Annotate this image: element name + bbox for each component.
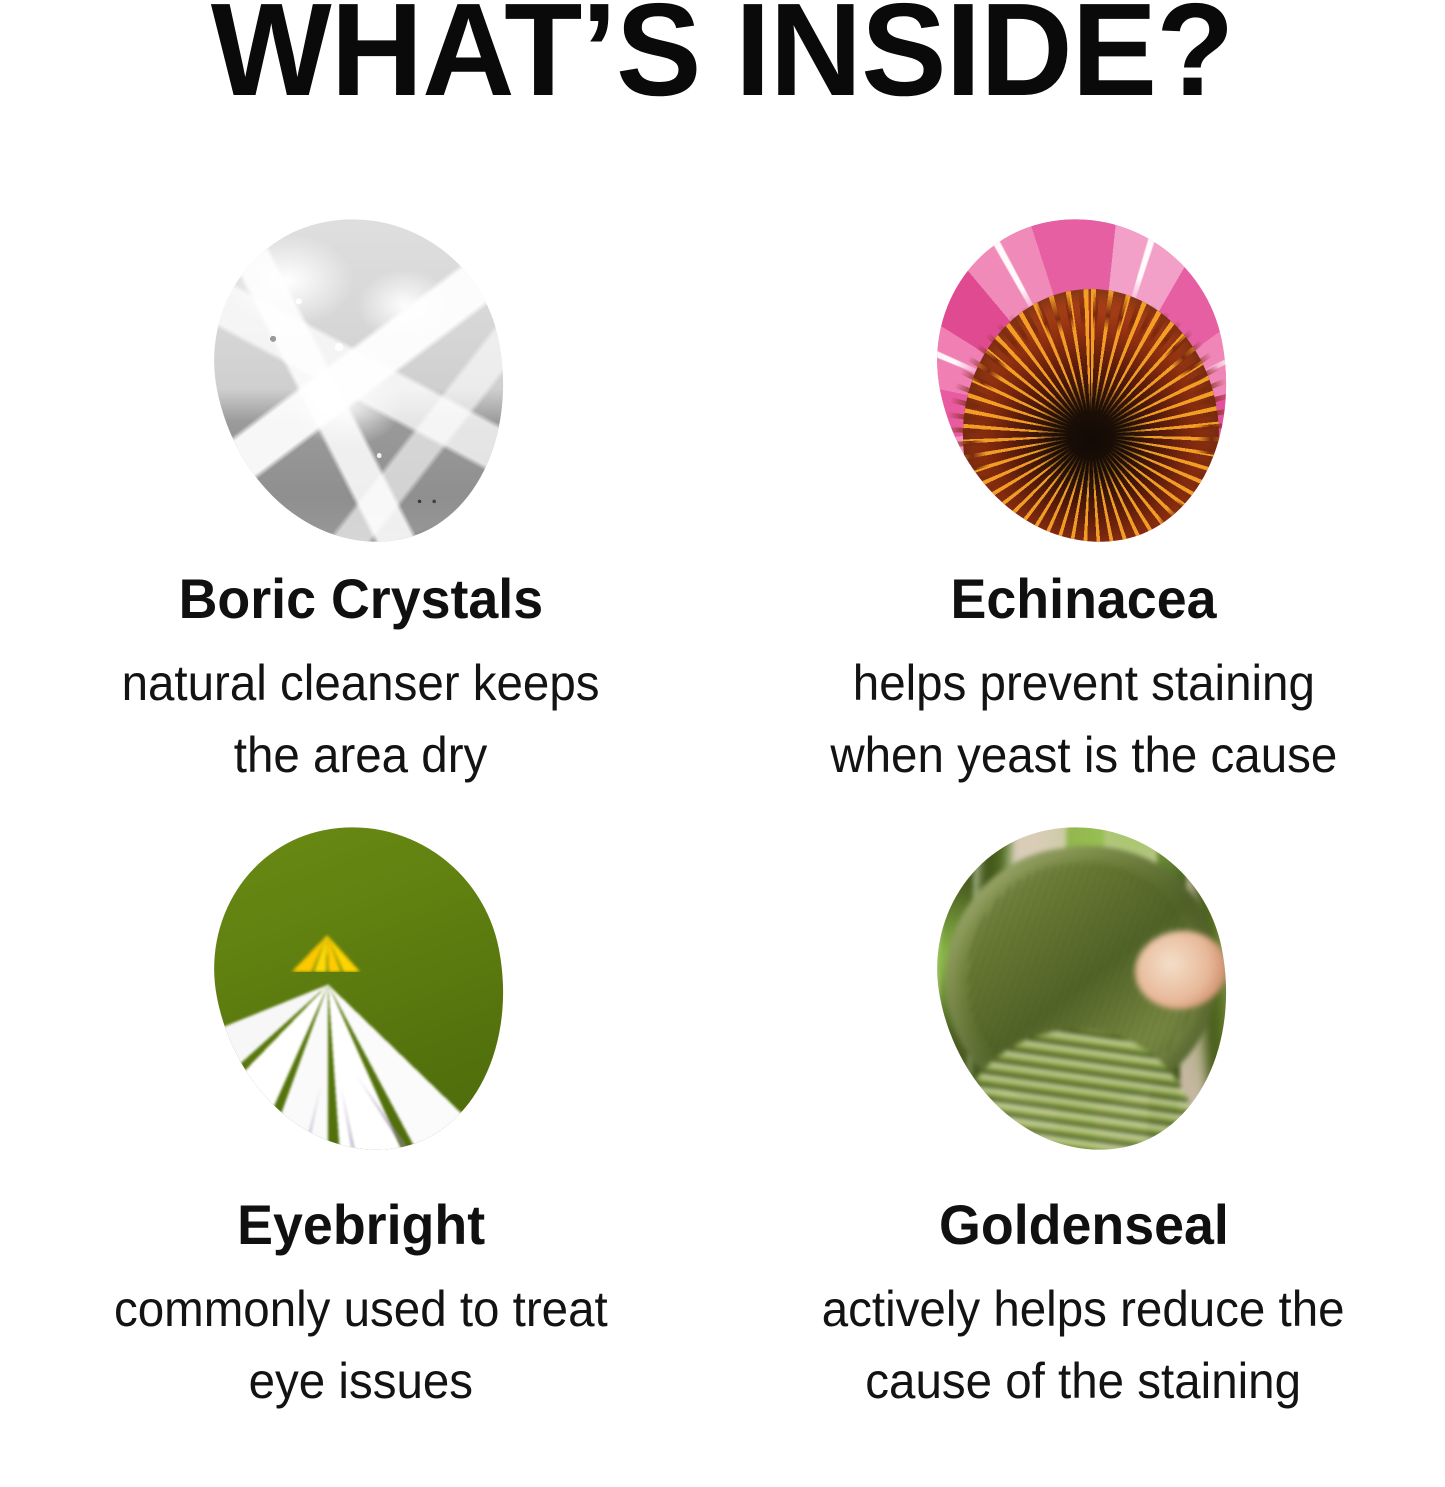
- ingredient-description: actively helps reduce the cause of the s…: [822, 1273, 1345, 1418]
- ingredient-card-eyebright: Eyebright commonly used to treat eye iss…: [0, 810, 722, 1487]
- ingredient-name: Boric Crystals: [179, 570, 544, 629]
- boric-crystals-image: [190, 194, 533, 569]
- goldenseal-image: [912, 802, 1255, 1177]
- header: WHAT’S INSIDE?: [0, 0, 1445, 124]
- ingredient-description: natural cleanser keeps the area dry: [122, 647, 600, 792]
- echinacea-cone-center: [963, 289, 1219, 568]
- ingredient-description: helps prevent staining when yeast is the…: [830, 647, 1337, 792]
- eyebright-background: [190, 802, 533, 1177]
- ingredient-card-boric-crystals: Boric Crystals natural cleanser keeps th…: [0, 140, 722, 810]
- ingredient-card-echinacea: Echinacea helps prevent staining when ye…: [722, 140, 1445, 810]
- echinacea-image: [912, 194, 1255, 569]
- eyebright-yellow-center: [266, 805, 427, 972]
- ingredient-description: commonly used to treat eye issues: [114, 1273, 608, 1418]
- ingredient-name: Echinacea: [951, 570, 1217, 629]
- ingredient-card-goldenseal: Goldenseal actively helps reduce the cau…: [722, 810, 1445, 1487]
- echinacea-petals: [912, 194, 1255, 569]
- ingredient-grid: Boric Crystals natural cleanser keeps th…: [0, 140, 1445, 1487]
- ingredient-name: Eyebright: [237, 1196, 485, 1255]
- eyebright-image: [190, 802, 533, 1177]
- ingredient-name: Goldenseal: [939, 1196, 1229, 1255]
- page-title: WHAT’S INSIDE?: [211, 0, 1234, 116]
- goldenseal-background: [912, 802, 1255, 1177]
- crystal-texture: [190, 194, 533, 569]
